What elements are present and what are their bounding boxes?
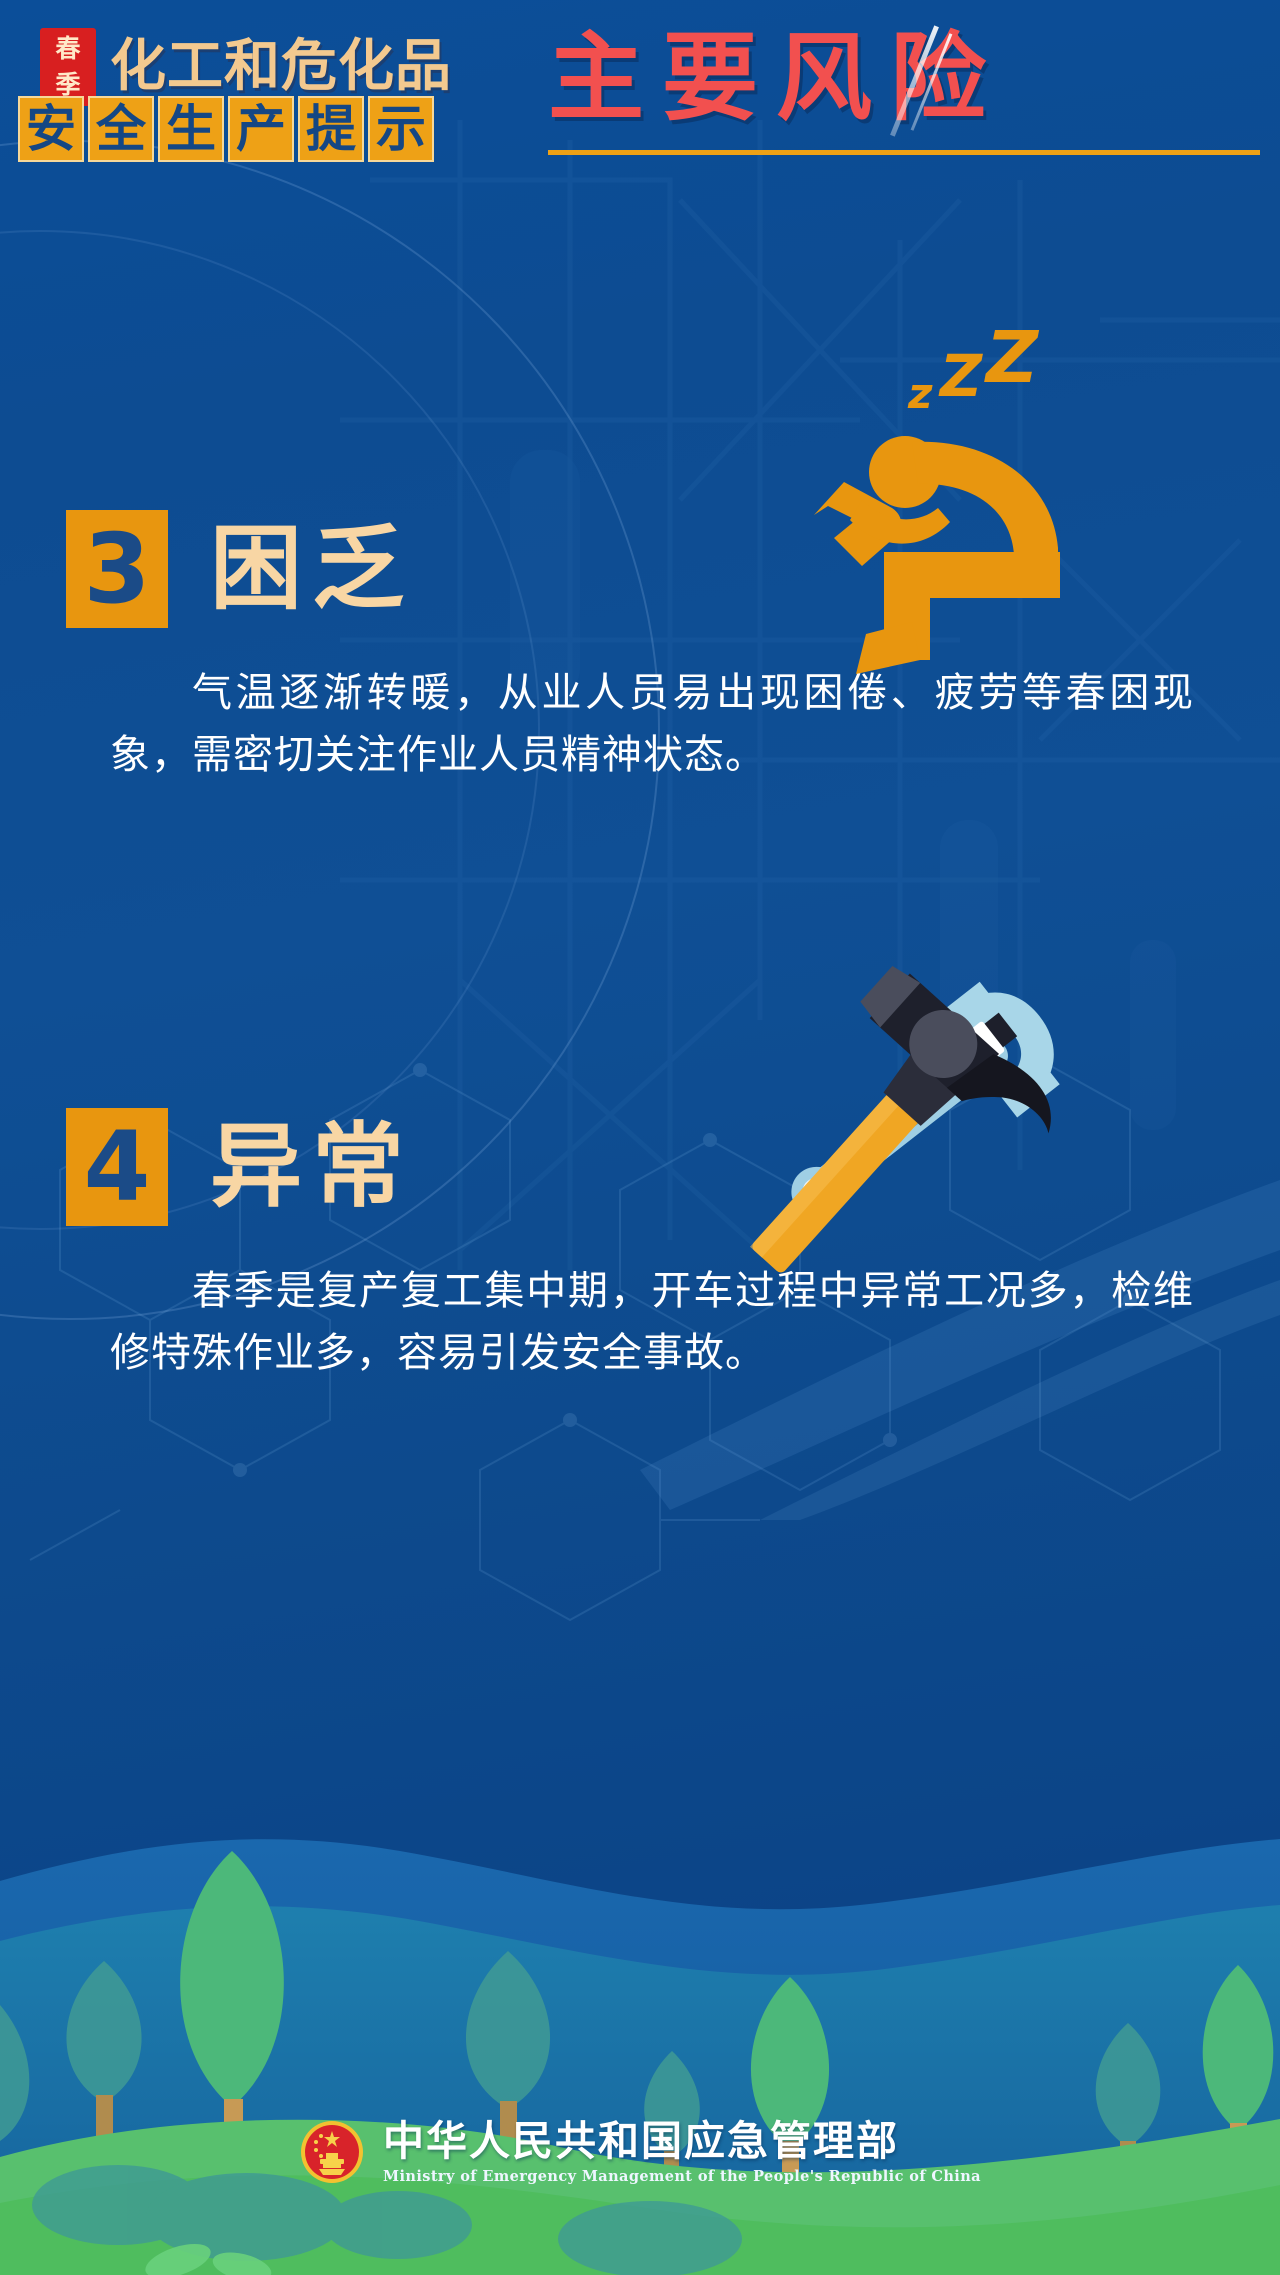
header-char-box: 安	[18, 96, 84, 162]
section-3-title: 困乏	[210, 513, 414, 625]
ministry-name-cn: 中华人民共和国应急管理部	[383, 2117, 981, 2165]
page-title-text: 主要风险	[548, 22, 1004, 134]
header-char-box: 全	[88, 96, 154, 162]
footer-brand-text: 中华人民共和国应急管理部 Ministry of Emergency Manag…	[383, 2117, 981, 2187]
poster-root: 春 季 化工和危化品 安 全 生 产 提 示 主要风险 z Z	[0, 0, 1280, 2275]
svg-text:Z: Z	[938, 342, 983, 410]
header-underline-rule	[548, 150, 1260, 155]
section-4-number: 4	[66, 1108, 168, 1226]
poster-header: 春 季 化工和危化品 安 全 生 产 提 示 主要风险	[0, 0, 1280, 205]
header-right-block: 主要风险	[548, 12, 1268, 152]
header-char-box: 示	[368, 96, 434, 162]
svg-text:Z: Z	[984, 330, 1040, 399]
footer-brand: 中华人民共和国应急管理部 Ministry of Emergency Manag…	[0, 2117, 1280, 2187]
header-subtitle-line2: 安 全 生 产 提 示	[18, 96, 434, 162]
national-emblem-icon	[299, 2119, 365, 2185]
hammer-wrench-icon	[720, 950, 1100, 1290]
header-char-box: 提	[298, 96, 364, 162]
svg-text:z: z	[907, 369, 933, 418]
section-3-body: 气温逐渐转暖，从业人员易出现困倦、疲劳等春困现象，需密切关注作业人员精神状态。	[0, 662, 1280, 786]
section-3-number: 3	[66, 510, 168, 628]
section-4-title: 异常	[210, 1111, 414, 1223]
landscape-illustration	[0, 1755, 1280, 2275]
page-title: 主要风险	[548, 12, 1268, 144]
header-char-box: 生	[158, 96, 224, 162]
header-char-box: 产	[228, 96, 294, 162]
sleeping-person-zzz-icon: z Z Z	[800, 330, 1140, 680]
season-seal-stamp: 春 季	[40, 28, 96, 106]
ministry-name-en: Ministry of Emergency Management of the …	[383, 2167, 981, 2187]
seal-char-1: 春	[40, 31, 96, 67]
header-subtitle-line1: 化工和危化品	[110, 30, 452, 104]
